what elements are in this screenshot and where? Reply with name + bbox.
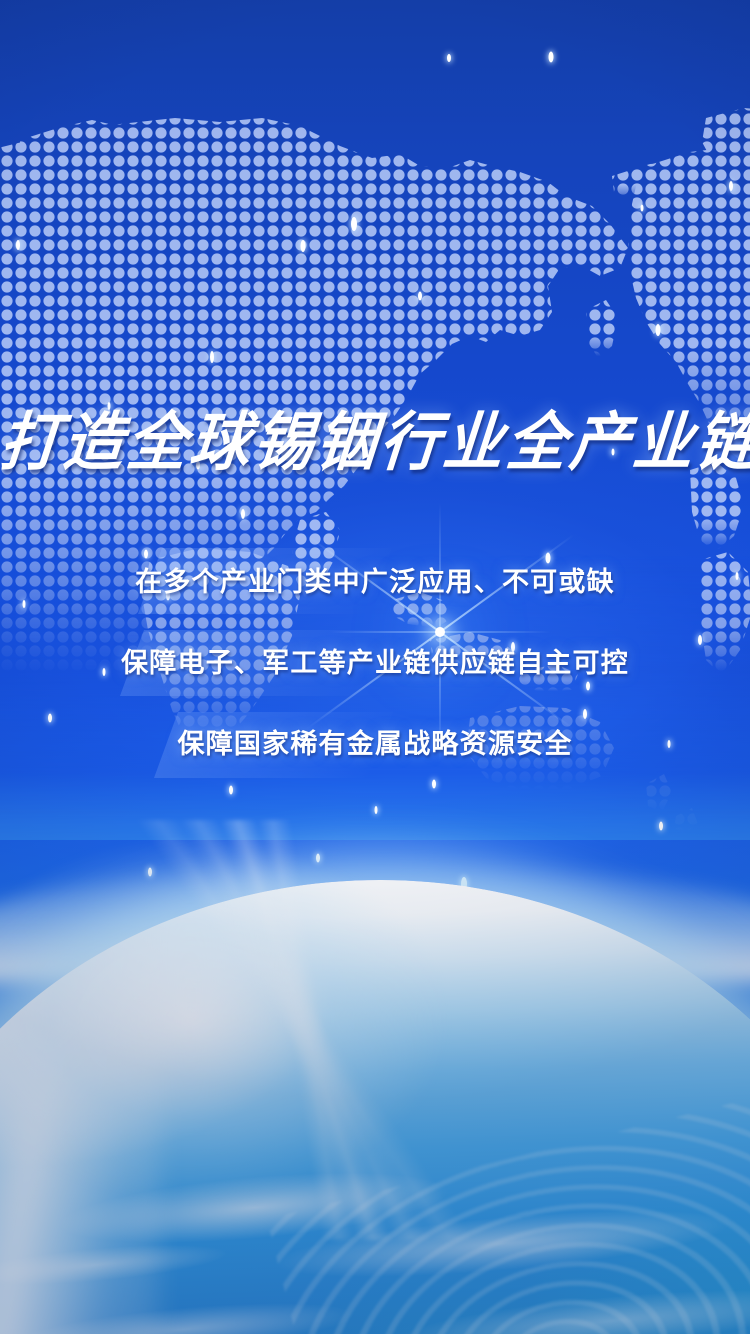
poster-canvas: 打造全球锡铟行业全产业链链主 在多个产业门类中广泛应用、不可或缺 保障电子、军工…	[0, 0, 750, 1334]
subtitle-line-2: 保障电子、军工等产业链供应链自主可控	[0, 641, 750, 680]
page-title: 打造全球锡铟行业全产业链链主	[0, 411, 750, 475]
subtitle-line-1: 在多个产业门类中广泛应用、不可或缺	[0, 560, 750, 599]
subtitle-line-3: 保障国家稀有金属战略资源安全	[0, 722, 750, 761]
earth-horizon	[0, 880, 750, 1334]
